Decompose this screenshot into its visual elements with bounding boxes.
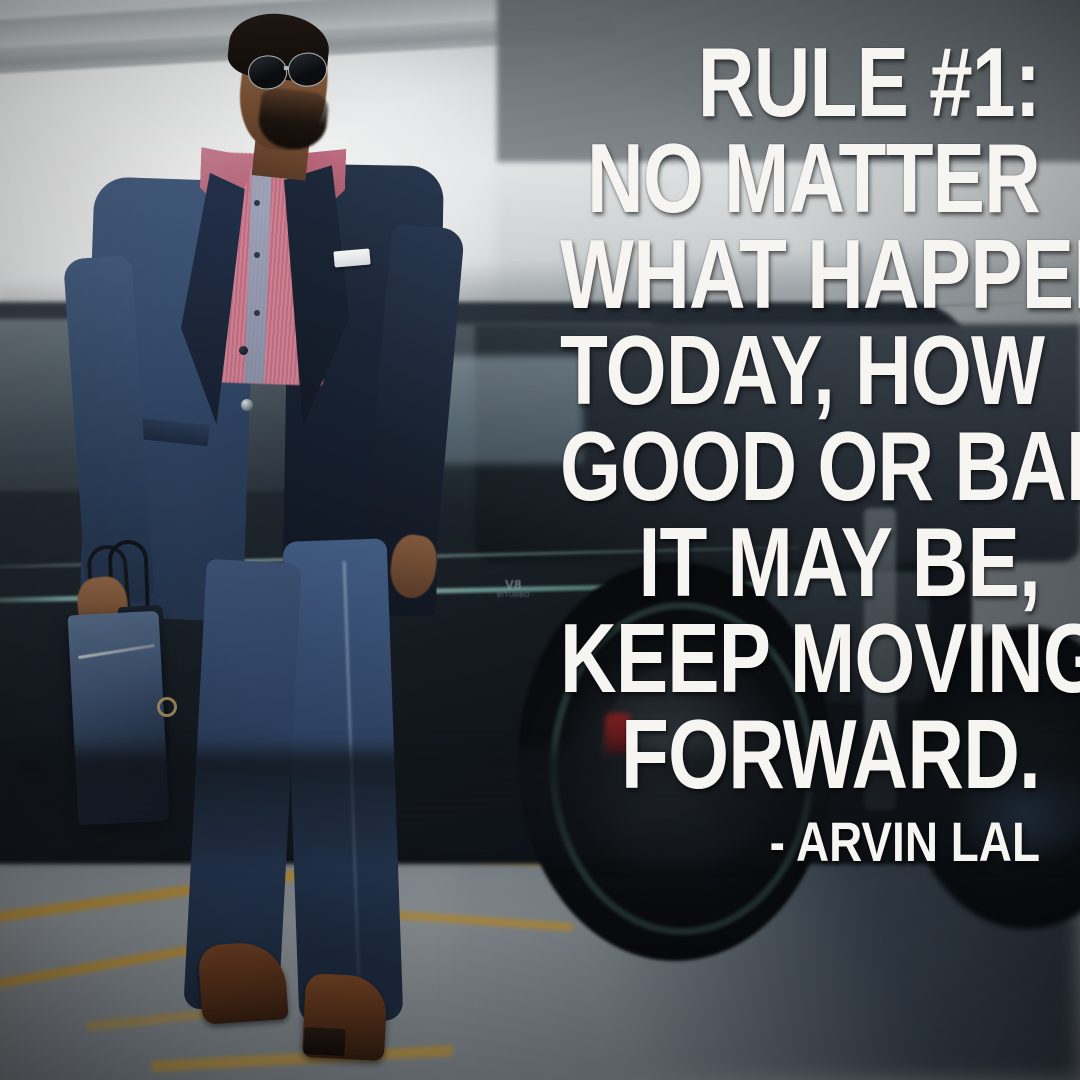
ceiling-right-shadow — [497, 0, 1080, 162]
pocket-square — [333, 248, 371, 267]
sunglasses-lens-right — [287, 51, 329, 88]
sunglasses-lens-left — [247, 54, 289, 91]
brake-caliper — [605, 713, 631, 755]
boot-heel — [304, 1027, 346, 1056]
ground-contact-shadow — [0, 751, 1080, 859]
shirt-button — [254, 310, 260, 316]
jacket-button-top — [239, 346, 248, 355]
background-photo: V8 BITURBO — [0, 0, 1080, 1080]
shirt-button — [254, 200, 260, 206]
briefcase-ring-hardware — [157, 697, 177, 717]
quote-poster: V8 BITURBO — [0, 0, 1080, 1080]
man-in-suit — [59, 16, 513, 1064]
jacket-button — [241, 399, 253, 411]
aviator-sunglasses — [247, 51, 328, 89]
